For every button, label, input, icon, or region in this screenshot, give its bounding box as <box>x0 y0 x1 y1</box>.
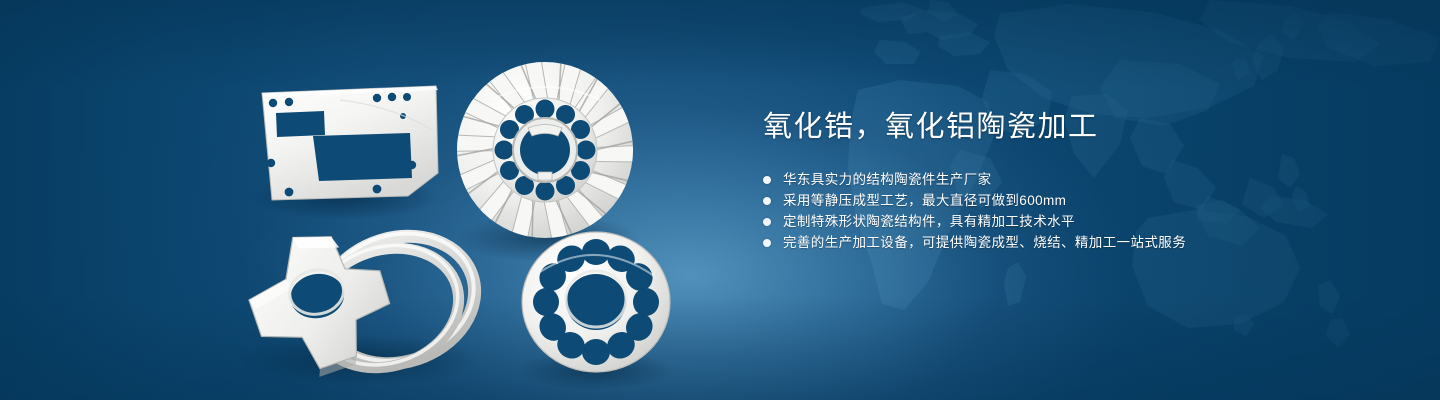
ceramic-plate-photo <box>262 86 438 200</box>
bullet-dot-icon <box>763 197 771 205</box>
list-item: 华东具实力的结构陶瓷件生产厂家 <box>763 169 1383 190</box>
list-item: 定制特殊形状陶瓷结构件，具有精加工技术水平 <box>763 211 1383 232</box>
list-item: 采用等静压成型工艺，最大直径可做到600mm <box>763 190 1383 211</box>
list-item: 完善的生产加工设备，可提供陶瓷成型、烧结、精加工一站式服务 <box>763 232 1383 253</box>
bullet-dot-icon <box>763 218 771 226</box>
promo-banner: 氧化锆，氧化铝陶瓷加工 华东具实力的结构陶瓷件生产厂家 采用等静压成型工艺，最大… <box>0 0 1440 400</box>
list-item-label: 定制特殊形状陶瓷结构件，具有精加工技术水平 <box>783 211 1075 232</box>
ceramic-hole-disc-photo <box>522 232 670 372</box>
bullet-dot-icon <box>763 176 771 184</box>
bullet-dot-icon <box>763 239 771 247</box>
page-title: 氧化锆，氧化铝陶瓷加工 <box>763 110 1383 144</box>
list-item-label: 完善的生产加工设备，可提供陶瓷成型、烧结、精加工一站式服务 <box>783 232 1186 253</box>
list-item-label: 采用等静压成型工艺，最大直径可做到600mm <box>783 190 1066 211</box>
list-item-label: 华东具实力的结构陶瓷件生产厂家 <box>783 169 992 190</box>
banner-copy: 氧化锆，氧化铝陶瓷加工 华东具实力的结构陶瓷件生产厂家 采用等静压成型工艺，最大… <box>763 110 1383 253</box>
product-photo-group <box>0 0 720 400</box>
feature-list: 华东具实力的结构陶瓷件生产厂家 采用等静压成型工艺，最大直径可做到600mm 定… <box>763 169 1383 253</box>
